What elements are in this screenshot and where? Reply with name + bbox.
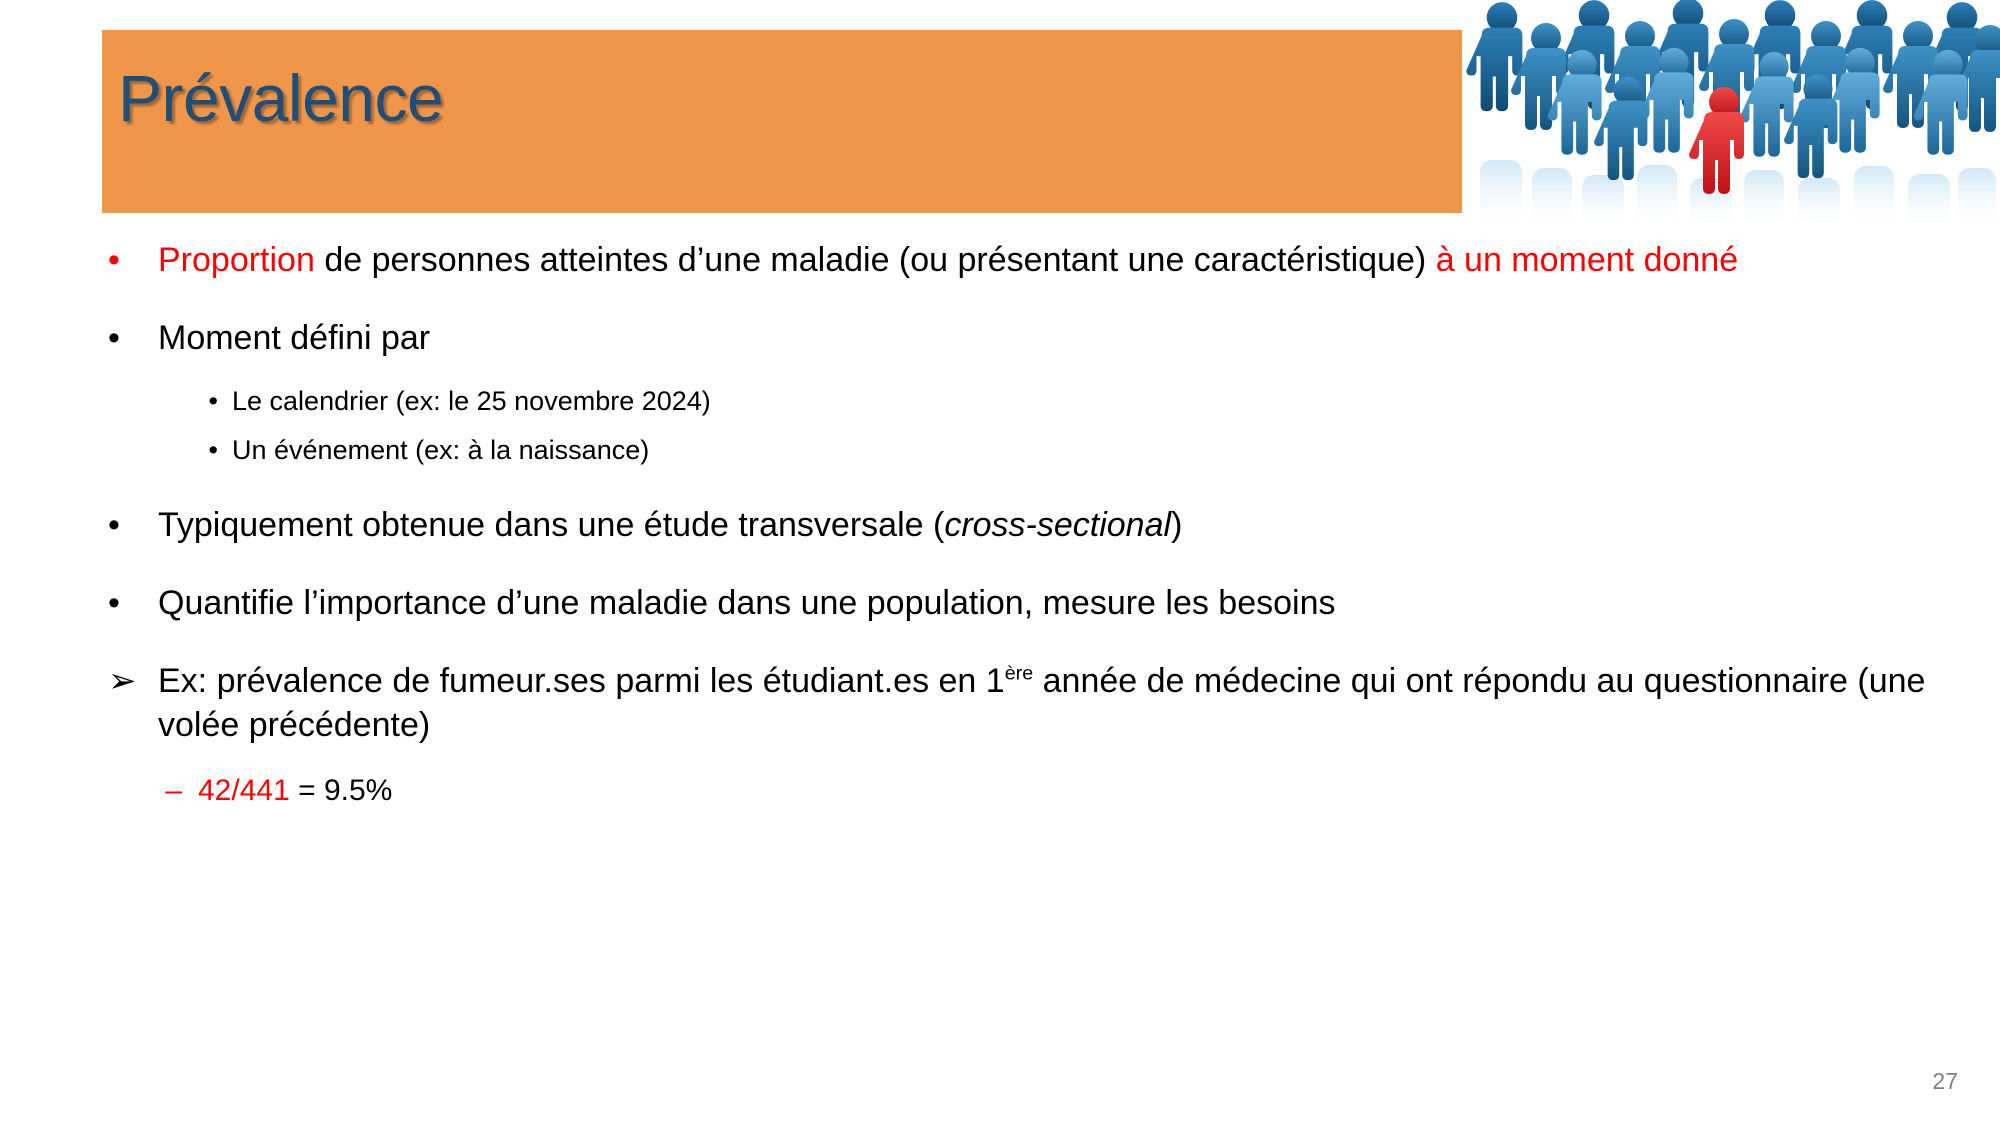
sub-bullet-fraction-text: 42/441 = 9.5% <box>198 771 1932 810</box>
bullet-marker-dot: • <box>102 433 232 468</box>
bullet-marker-dot: • <box>102 581 158 625</box>
proportion-rest: de personnes atteintes d’une maladie (ou… <box>315 241 1436 279</box>
cross-sectional-italic: cross-sectional <box>944 506 1171 544</box>
bullet-marker-dot: • <box>102 384 232 419</box>
bullet-quantifie: • Quantifie l’importance d’une maladie d… <box>102 581 1932 625</box>
bullet-transversale-text: Typiquement obtenue dans une étude trans… <box>158 503 1932 547</box>
bullet-proportion-text: Proportion de personnes atteintes d’une … <box>158 238 1932 282</box>
sub-bullet-calendrier: • Le calendrier (ex: le 25 novembre 2024… <box>102 384 1932 419</box>
bullet-marker-dash: – <box>102 771 198 810</box>
slide-number: 27 <box>1932 1068 1958 1095</box>
bullet-example-prevalence: ➢ Ex: prévalence de fumeur.ses parmi les… <box>102 659 1932 747</box>
bullet-proportion: • Proportion de personnes atteintes d’un… <box>102 238 1932 282</box>
fraction-result: = 9.5% <box>290 774 393 807</box>
sub-bullet-evenement-text: Un événement (ex: à la naissance) <box>232 433 1932 468</box>
crowd-of-people-one-highlighted-image <box>1462 0 2000 230</box>
slide-body: • Proportion de personnes atteintes d’un… <box>102 238 1932 820</box>
proportion-keyword: Proportion <box>158 241 315 279</box>
example-pre: Ex: prévalence de fumeur.ses parmi les é… <box>158 662 1005 700</box>
transversale-post: ) <box>1171 506 1182 544</box>
bullet-moment-defini: • Moment défini par <box>102 316 1932 360</box>
moment-donne-highlight: à un moment donné <box>1436 241 1738 279</box>
fraction-value: 42/441 <box>198 774 290 807</box>
bullet-marker-dot: • <box>102 238 158 282</box>
sub-bullet-fraction: – 42/441 = 9.5% <box>102 771 1932 810</box>
transversale-pre: Typiquement obtenue dans une étude trans… <box>158 506 944 544</box>
page-title: Prévalence <box>118 60 443 136</box>
bullet-quantifie-text: Quantifie l’importance d’une maladie dan… <box>158 581 1932 625</box>
bullet-example-text: Ex: prévalence de fumeur.ses parmi les é… <box>158 659 1932 747</box>
ordinal-suffix: ère <box>1005 663 1033 685</box>
sub-bullet-calendrier-text: Le calendrier (ex: le 25 novembre 2024) <box>232 384 1932 419</box>
bullet-moment-defini-text: Moment défini par <box>158 316 1932 360</box>
bullet-transversale: • Typiquement obtenue dans une étude tra… <box>102 503 1932 547</box>
bullet-marker-arrow: ➢ <box>102 659 158 703</box>
bullet-marker-dot: • <box>102 316 158 360</box>
bullet-marker-dot: • <box>102 503 158 547</box>
sub-bullet-evenement: • Un événement (ex: à la naissance) <box>102 433 1932 468</box>
